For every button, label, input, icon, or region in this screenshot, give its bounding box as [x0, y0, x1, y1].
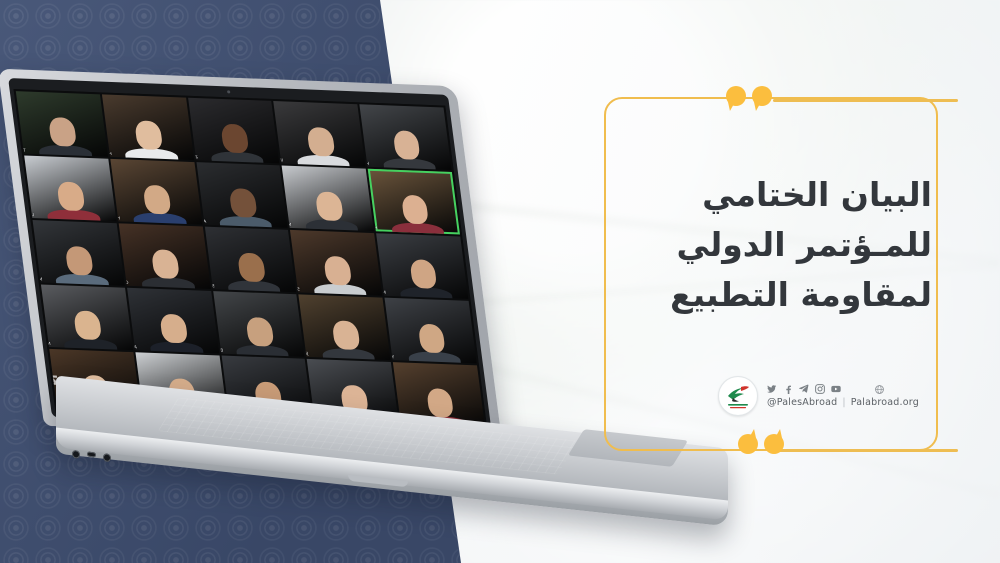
quote-marks-top — [726, 86, 772, 106]
participant-head — [245, 317, 274, 347]
participant-name: Lubna Qutami — [24, 211, 34, 217]
participant-head — [323, 256, 352, 286]
instagram-icon — [815, 384, 825, 394]
video-tile[interactable]: A. K. — [127, 288, 219, 354]
video-tile[interactable]: Tarek Khoury — [16, 91, 108, 157]
video-tile[interactable]: Hassan Nassar — [360, 104, 452, 170]
gold-rule-bottom — [775, 449, 958, 452]
participant-head — [306, 127, 335, 157]
video-tile[interactable]: IBRAHIM M. — [274, 101, 366, 167]
video-tile[interactable]: Hugh Lanning — [102, 94, 194, 160]
brand-text: @PalesAbroad | Palabroad.org — [767, 384, 919, 408]
brand-handle: @PalesAbroad | Palabroad.org — [767, 397, 919, 408]
quote-marks-bottom — [738, 434, 784, 454]
poster-canvas: Tarek KhouryHugh LanningZwelivelile M.IB… — [0, 0, 1000, 563]
port-round-1 — [72, 450, 80, 459]
social-icons-row — [767, 384, 919, 394]
participant-head — [151, 249, 180, 279]
video-tile[interactable]: Lubna Qutami — [24, 156, 116, 222]
video-tile[interactable]: Omar Zain — [118, 223, 210, 289]
participant-head — [401, 195, 430, 225]
participant-head — [159, 314, 188, 344]
participant-head — [229, 188, 258, 218]
globe-icon — [875, 385, 884, 394]
video-tile[interactable]: Mohammad Abu M. — [33, 220, 125, 286]
youtube-icon — [831, 384, 841, 394]
participant-head — [143, 185, 172, 215]
participant-head — [315, 192, 344, 222]
video-tile[interactable]: Nasser Shaath — [41, 284, 133, 350]
headline-line-3: لمقاومة التطبيع — [592, 270, 932, 320]
participant-head — [134, 121, 163, 151]
quote-mark-icon — [726, 86, 746, 106]
video-tile[interactable]: Hani AlKhatib — [110, 159, 202, 225]
palestinians-abroad-logo — [718, 376, 758, 416]
facebook-icon — [783, 384, 793, 394]
participant-head — [57, 182, 86, 212]
video-tile[interactable]: Salem Abu Ali — [290, 230, 382, 296]
port-slim — [87, 452, 96, 458]
video-tile[interactable]: Samer Khalil — [204, 227, 296, 293]
participant-head — [409, 259, 438, 289]
participant-head — [392, 130, 421, 160]
video-tile[interactable]: Yousef Alqadi — [385, 298, 477, 364]
participant-head — [220, 124, 249, 154]
participant-head — [237, 253, 266, 283]
participant-head — [417, 324, 446, 354]
participant-name: Tarek Khoury — [16, 147, 26, 153]
video-tile[interactable]: Basem Zahhar — [213, 291, 305, 357]
video-tile[interactable]: Jihad Mujahed — [299, 294, 391, 360]
video-tile[interactable]: Zwelivelile M. — [188, 98, 280, 164]
handle-separator: | — [842, 397, 845, 408]
video-tile[interactable]: Hanin Odetallah — [368, 169, 460, 235]
video-tile[interactable]: Atif AlZain — [196, 162, 288, 228]
gold-rule-top — [773, 99, 958, 102]
participant-name: Mohammad Abu M. — [33, 275, 43, 282]
twitter-icon — [767, 384, 777, 394]
video-tile[interactable]: Mousa Hamdan — [376, 233, 468, 299]
port-round-2 — [103, 453, 111, 462]
telegram-icon — [799, 384, 809, 394]
brand-strip: @PalesAbroad | Palabroad.org — [718, 376, 919, 416]
webcam-icon — [227, 90, 230, 93]
video-tile[interactable]: Majed Elsaeed — [282, 165, 374, 231]
quote-mark-icon — [738, 434, 758, 454]
participant-head — [331, 321, 360, 351]
quote-mark-icon — [764, 434, 784, 454]
page-title: البيان الختامي للمـؤتمر الدولي لمقاومة ا… — [592, 170, 932, 320]
website-url: Palabroad.org — [851, 397, 919, 408]
participant-name: Nasser Shaath — [41, 340, 51, 346]
headline-line-2: للمـؤتمر الدولي — [592, 220, 932, 270]
participant-head — [65, 246, 94, 276]
headline-line-1: البيان الختامي — [592, 170, 932, 220]
participant-head — [74, 311, 103, 341]
social-handle: @PalesAbroad — [767, 397, 837, 408]
participant-head — [48, 117, 77, 147]
quote-mark-icon — [752, 86, 772, 106]
